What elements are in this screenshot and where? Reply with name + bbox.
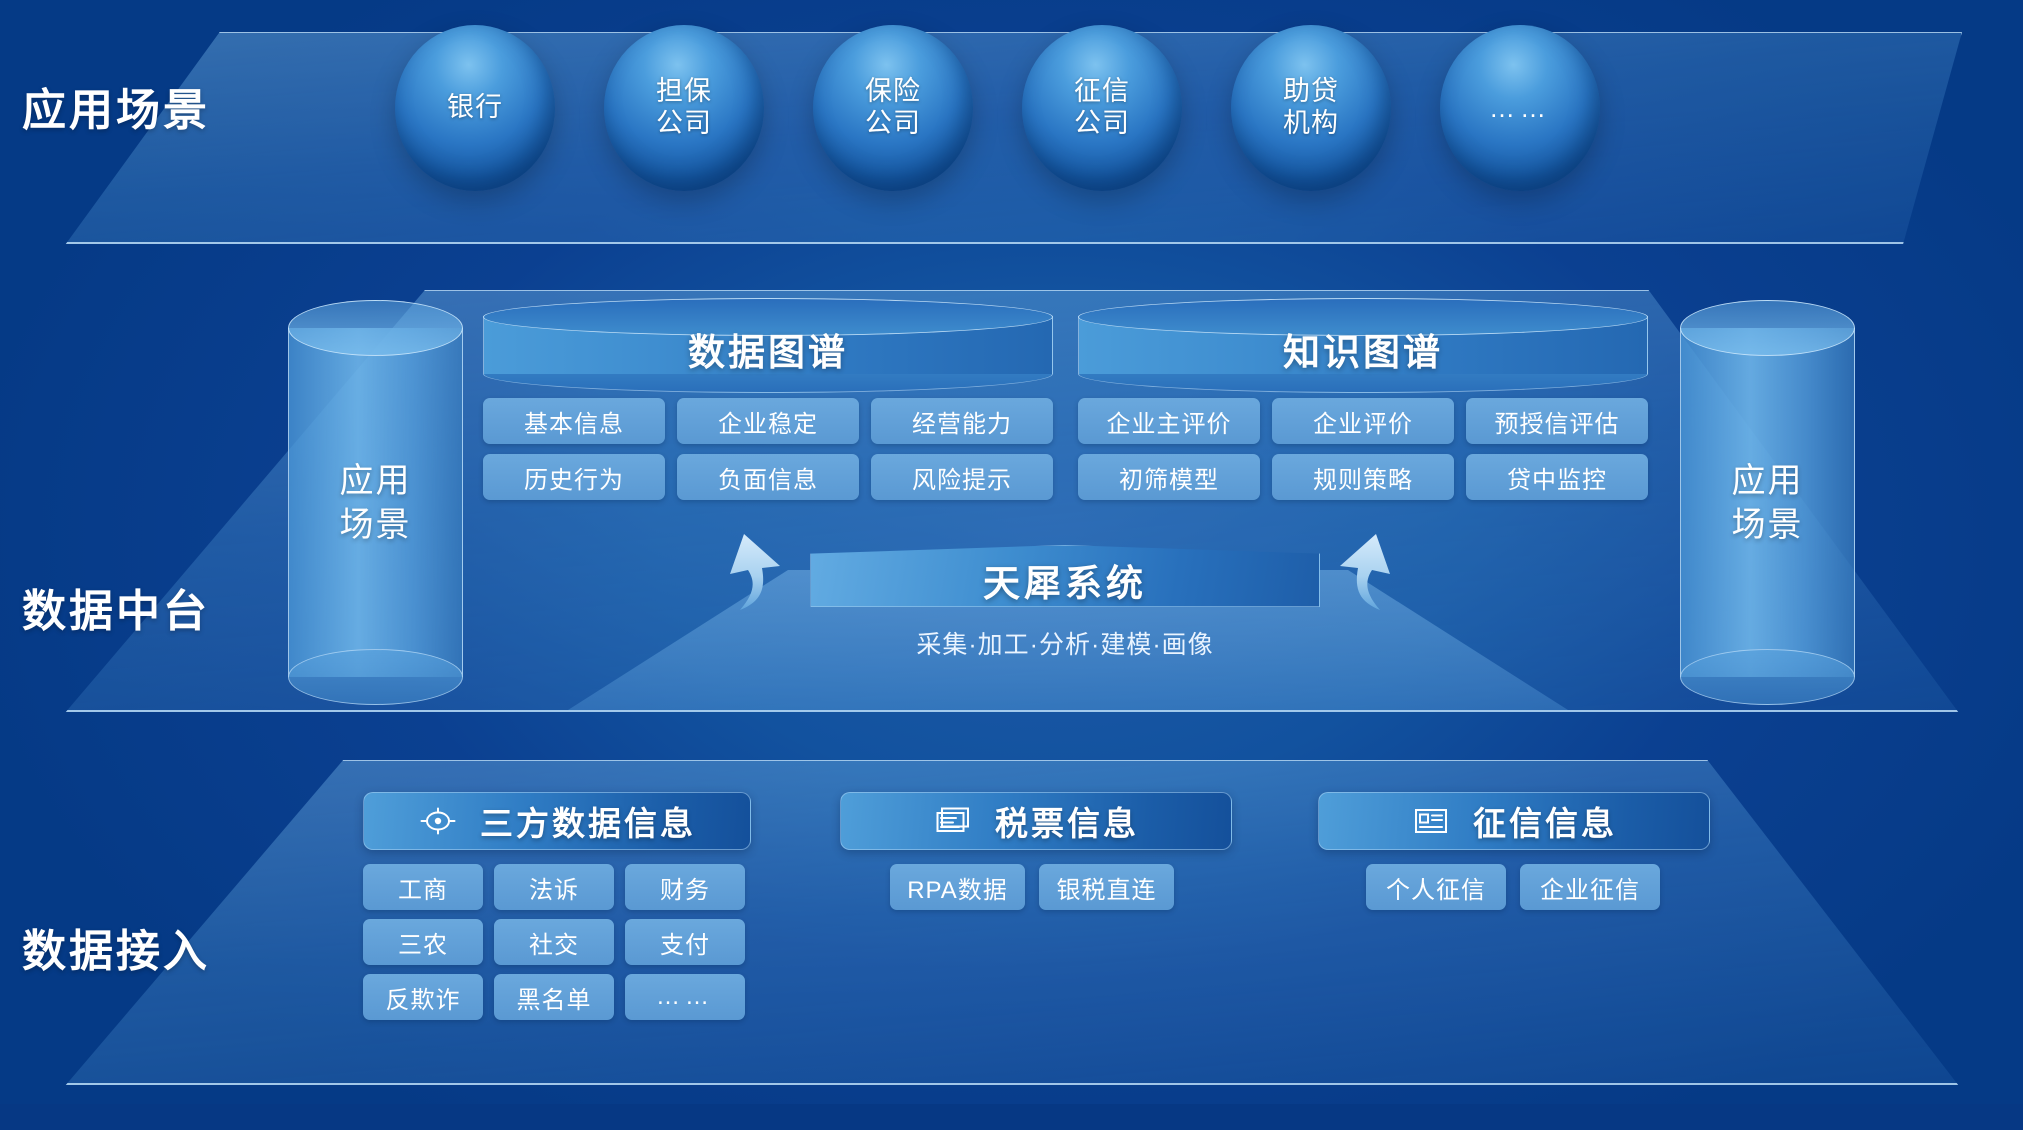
disc-title-data-graph: 数据图谱 <box>483 322 1053 376</box>
tag-grid-knowledge-graph: 企业主评价 企业评价 预授信评估 初筛模型 规则策略 贷中监控 <box>1078 398 1648 500</box>
tag-chip[interactable]: 预授信评估 <box>1466 398 1648 444</box>
application-scenario-spheres: 银行 担保 公司 保险 公司 征信 公司 助贷 机构 …… <box>0 0 2023 210</box>
source-title: 税票信息 <box>995 797 1139 845</box>
cylinder-bottom-ellipse <box>288 649 463 705</box>
tag-chip[interactable]: 支付 <box>625 919 745 965</box>
sphere-label: 保险 公司 <box>865 76 921 140</box>
tag-chip[interactable]: 初筛模型 <box>1078 454 1260 500</box>
system-subtitle: 采集·加工·分析·建模·画像 <box>810 625 1320 661</box>
disc-title-knowledge-graph: 知识图谱 <box>1078 322 1648 376</box>
tag-chip[interactable]: 风险提示 <box>871 454 1053 500</box>
source-tag-grid-third-party: 工商 法诉 财务 三农 社交 支付 反欺诈 黑名单 …… <box>363 864 751 1020</box>
source-tag-grid-credit-info: 个人征信 企业征信 <box>1318 864 1710 910</box>
tag-chip[interactable]: 贷中监控 <box>1466 454 1648 500</box>
cylinder-application-scenario-left: 应用 场景 <box>288 300 463 705</box>
tag-chip[interactable]: 反欺诈 <box>363 974 483 1020</box>
sphere-insurance-company[interactable]: 保险 公司 <box>813 25 973 191</box>
tag-chip[interactable]: 企业征信 <box>1520 864 1660 910</box>
tag-chip[interactable]: 财务 <box>625 864 745 910</box>
cylinder-application-scenario-right: 应用 场景 <box>1680 300 1855 705</box>
source-group-tax-invoice: 税票信息 RPA数据 银税直连 <box>840 792 1232 910</box>
tag-chip[interactable]: 工商 <box>363 864 483 910</box>
id-card-icon <box>1411 804 1451 838</box>
invoice-icon <box>933 804 973 838</box>
tag-chip[interactable]: 社交 <box>494 919 614 965</box>
cylinder-label: 应用 场景 <box>1680 458 1855 546</box>
tag-grid-data-graph: 基本信息 企业稳定 经营能力 历史行为 负面信息 风险提示 <box>483 398 1053 500</box>
section-label-data-platform: 数据中台 <box>22 575 210 639</box>
source-group-third-party: 三方数据信息 工商 法诉 财务 三农 社交 支付 反欺诈 黑名单 …… <box>363 792 751 1020</box>
sphere-label: 征信 公司 <box>1074 76 1130 140</box>
tag-chip-more[interactable]: …… <box>625 974 745 1020</box>
tag-chip[interactable]: 规则策略 <box>1272 454 1454 500</box>
target-crosshair-icon <box>418 804 458 838</box>
sphere-more[interactable]: …… <box>1440 25 1600 191</box>
tag-chip[interactable]: 企业稳定 <box>677 398 859 444</box>
tag-chip[interactable]: 历史行为 <box>483 454 665 500</box>
sphere-label: 担保 公司 <box>656 76 712 140</box>
source-tag-grid-tax-invoice: RPA数据 银税直连 <box>840 864 1232 910</box>
tag-chip[interactable]: 法诉 <box>494 864 614 910</box>
tag-chip[interactable]: 经营能力 <box>871 398 1053 444</box>
tag-chip[interactable]: 企业主评价 <box>1078 398 1260 444</box>
tag-chip[interactable]: 黑名单 <box>494 974 614 1020</box>
curved-arrow-up-icon <box>700 528 790 628</box>
sphere-label: 助贷 机构 <box>1283 76 1339 140</box>
source-title: 征信信息 <box>1473 797 1617 845</box>
tag-chip[interactable]: 负面信息 <box>677 454 859 500</box>
source-header-third-party[interactable]: 三方数据信息 <box>363 792 751 850</box>
section-label-data-access: 数据接入 <box>22 915 210 979</box>
disc-knowledge-graph[interactable]: 知识图谱 <box>1078 298 1648 394</box>
sphere-guarantee-company[interactable]: 担保 公司 <box>604 25 764 191</box>
disc-data-graph[interactable]: 数据图谱 <box>483 298 1053 394</box>
sphere-loan-agency[interactable]: 助贷 机构 <box>1231 25 1391 191</box>
cylinder-bottom-ellipse <box>1680 649 1855 705</box>
diagram-canvas: 应用场景 数据中台 数据接入 银行 担保 公司 保险 公司 征信 公司 助贷 机… <box>0 0 2023 1130</box>
tag-chip[interactable]: 基本信息 <box>483 398 665 444</box>
tag-chip[interactable]: 企业评价 <box>1272 398 1454 444</box>
curved-arrow-up-icon <box>1330 528 1420 628</box>
section-label-application: 应用场景 <box>22 74 210 138</box>
sphere-credit-company[interactable]: 征信 公司 <box>1022 25 1182 191</box>
source-header-tax-invoice[interactable]: 税票信息 <box>840 792 1232 850</box>
cylinder-top-ellipse <box>1680 300 1855 356</box>
tag-chip[interactable]: 银税直连 <box>1039 864 1174 910</box>
tag-chip[interactable]: 个人征信 <box>1366 864 1506 910</box>
system-title: 天犀系统 <box>810 545 1320 607</box>
cylinder-label: 应用 场景 <box>288 458 463 546</box>
sphere-bank[interactable]: 银行 <box>395 25 555 191</box>
cylinder-top-ellipse <box>288 300 463 356</box>
tag-chip[interactable]: RPA数据 <box>890 864 1025 910</box>
system-banner-tianxi[interactable]: 天犀系统 <box>810 545 1320 607</box>
tag-chip[interactable]: 三农 <box>363 919 483 965</box>
source-title: 三方数据信息 <box>480 797 696 845</box>
sphere-label: 银行 <box>447 92 503 124</box>
ellipsis-label: …… <box>1489 93 1551 124</box>
source-group-credit-info: 征信信息 个人征信 企业征信 <box>1318 792 1710 910</box>
source-header-credit-info[interactable]: 征信信息 <box>1318 792 1710 850</box>
